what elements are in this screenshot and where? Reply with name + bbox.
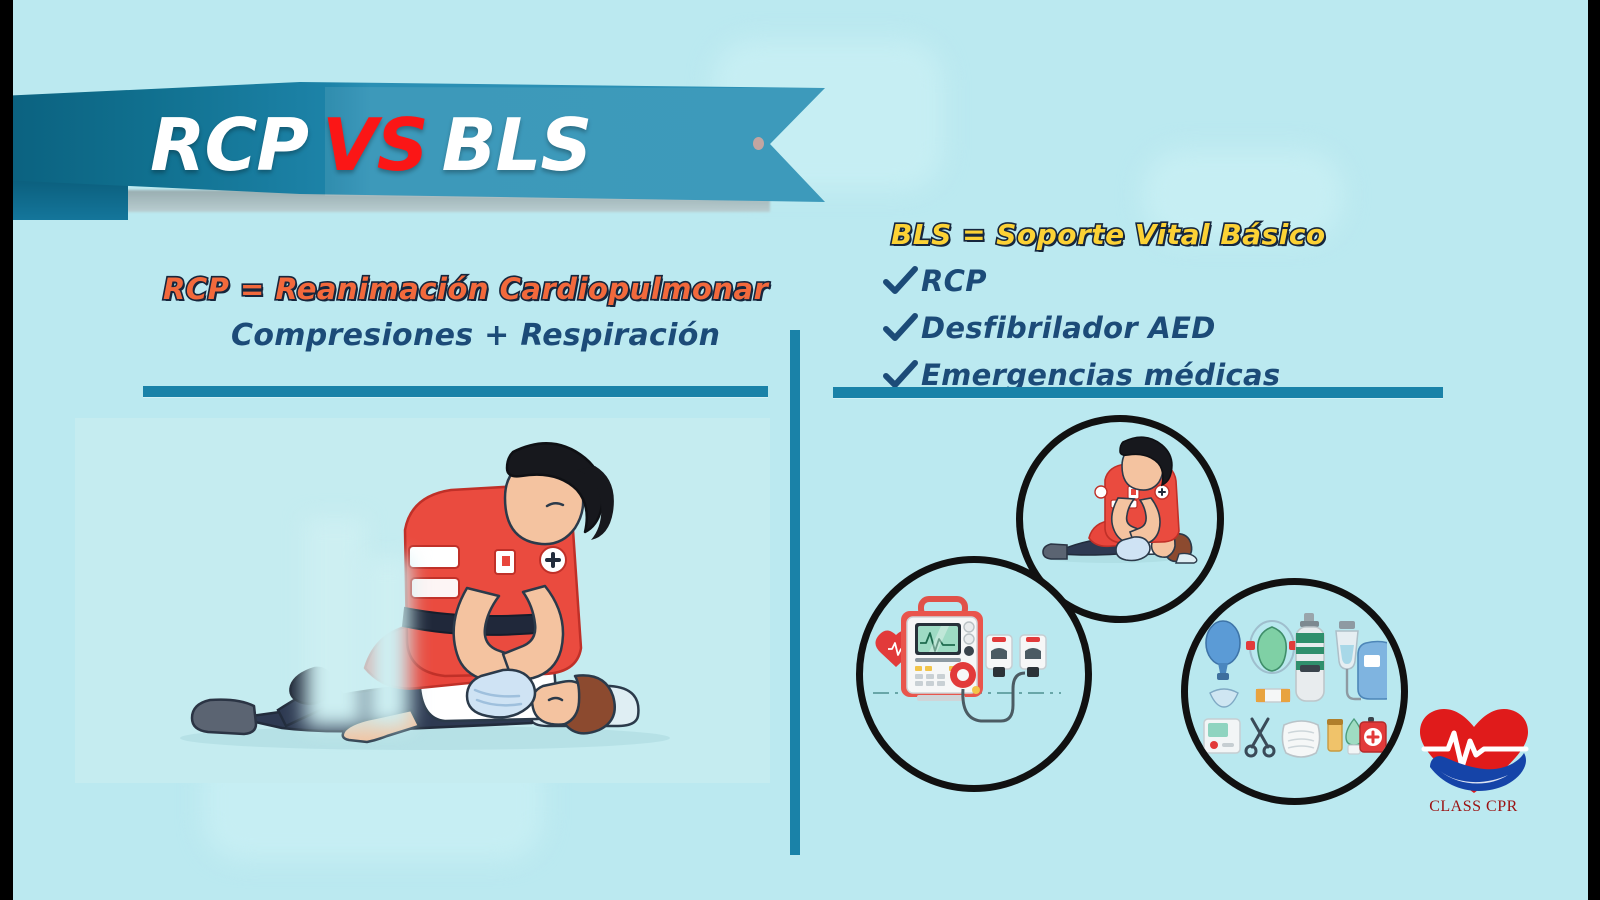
circle-aed <box>856 556 1092 792</box>
panel-haze <box>305 518 365 728</box>
title-rcp: RCP <box>150 109 308 181</box>
left-heading: RCP = Reanimación Cardiopulmonar <box>163 272 768 306</box>
right-divider-rule <box>833 387 1443 398</box>
list-item-label: Desfibrilador AED <box>921 311 1216 345</box>
heart-ecg-hand-logo-icon <box>1414 705 1534 797</box>
left-subheading: Compresiones + Respiración <box>231 318 720 353</box>
title-bls: BLS <box>442 109 592 181</box>
logo-text: CLASS CPR <box>1411 798 1536 816</box>
column-divider <box>790 330 800 855</box>
right-heading: BLS = Soporte Vital Básico <box>891 218 1326 251</box>
bls-bullet-list: RCP Desfibrilador AED Emergencias médica… <box>881 262 1501 403</box>
list-item: RCP <box>881 262 1501 299</box>
check-icon <box>881 266 921 296</box>
title-ribbon: RCP VS BLS <box>13 82 830 217</box>
medical-supplies-illustration <box>1188 585 1387 784</box>
cpr-illustration-panel <box>75 418 770 783</box>
aed-defibrillator-illustration <box>863 563 1071 771</box>
circle-medical-kit <box>1181 578 1408 805</box>
slide-title: RCP VS BLS <box>150 102 770 188</box>
list-item-label: RCP <box>921 264 987 298</box>
class-cpr-logo: CLASS CPR <box>1411 705 1536 820</box>
panel-haze <box>365 558 410 728</box>
list-item: Desfibrilador AED <box>881 309 1501 346</box>
cpr-chest-compression-illustration <box>75 418 770 783</box>
cpr-mini-illustration <box>1023 422 1203 602</box>
title-vs: VS <box>322 109 428 181</box>
left-divider-rule <box>143 386 768 397</box>
slide-root: RCP VS BLS RCP = Reanimación Cardiopulmo… <box>0 0 1600 900</box>
check-icon <box>881 313 921 343</box>
slide-canvas: RCP VS BLS RCP = Reanimación Cardiopulmo… <box>13 0 1588 900</box>
check-icon <box>881 360 921 390</box>
